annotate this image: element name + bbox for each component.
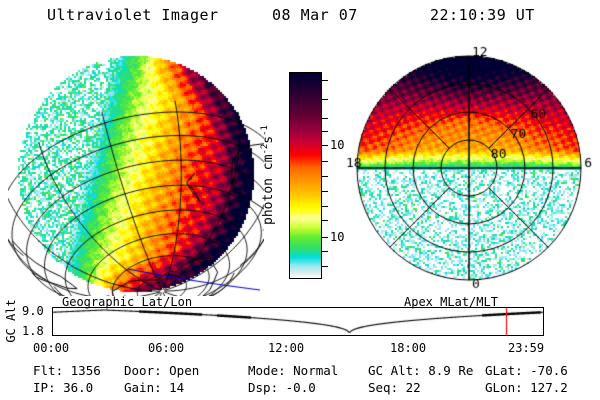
observation-time: 22:10:39 UT: [430, 6, 535, 24]
status-label: IP:: [33, 380, 63, 395]
time-tick-0600: 06:00: [148, 341, 184, 355]
colorbar: photon cm-2s-1 10010: [289, 72, 327, 279]
colorbar-axis-label: photon cm-2s-1: [260, 125, 276, 225]
colorbar-label-mid: s: [261, 136, 276, 144]
colorbar-tick: [322, 237, 328, 238]
colorbar-tick: [322, 176, 328, 177]
status-door: Door: Open: [124, 363, 199, 378]
colorbar-tick: [322, 251, 328, 252]
status-readout-block: Flt: 1356Door: OpenMode: NormalGC Alt: 8…: [0, 363, 600, 399]
colorbar-tick: [322, 99, 328, 100]
status-value: 14: [169, 380, 184, 395]
status-gcalt: GC Alt: 8.9 Re: [368, 363, 473, 378]
colorbar-tick: [322, 161, 328, 162]
status-value: 36.0: [63, 380, 93, 395]
time-tick-1800: 18:00: [390, 341, 426, 355]
status-label: Dsp:: [248, 380, 286, 395]
status-label: GC Alt:: [368, 363, 428, 378]
orbit-trace: [53, 308, 543, 335]
colorbar-tick: [322, 206, 328, 207]
time-tick-0000: 00:00: [33, 341, 69, 355]
status-label: Mode:: [248, 363, 293, 378]
status-value: 1356: [71, 363, 101, 378]
status-label: Flt:: [33, 363, 71, 378]
colorbar-tick: [322, 266, 328, 267]
colorbar-tick: [322, 80, 328, 81]
colorbar-tick: [322, 131, 328, 132]
status-seq: Seq: 22: [368, 380, 421, 395]
status-flt: Flt: 1356: [33, 363, 101, 378]
colorbar-tick-marks: [322, 72, 329, 279]
colorbar-exponent-2: -1: [260, 125, 270, 136]
status-label: Seq:: [368, 380, 406, 395]
status-value: Open: [169, 363, 199, 378]
colorbar-exponent-1: -2: [260, 144, 270, 155]
colorbar-gradient: [289, 72, 322, 279]
status-label: Door:: [124, 363, 169, 378]
time-tick-2359: 23:59: [508, 341, 544, 355]
gc-alt-tick-low: 1.8: [22, 324, 44, 338]
status-mode: Mode: Normal: [248, 363, 338, 378]
status-glon: GLon: 127.2: [485, 380, 568, 395]
gc-alt-axis-label: GC Alt: [4, 299, 18, 342]
status-value: 8.9 Re: [428, 363, 473, 378]
orbit-altitude-plot[interactable]: [52, 307, 544, 336]
observation-date: 08 Mar 07: [272, 6, 358, 24]
status-value: Normal: [293, 363, 338, 378]
time-tick-1200: 12:00: [268, 341, 304, 355]
colorbar-tick: [322, 118, 328, 119]
status-label: GLat:: [485, 363, 530, 378]
status-value: -70.6: [530, 363, 568, 378]
colorbar-label-text: photon cm: [261, 155, 276, 225]
status-dsp: Dsp: -0.0: [248, 380, 316, 395]
apex-polar-panel[interactable]: [345, 44, 593, 296]
status-value: -0.0: [286, 380, 316, 395]
status-ip: IP: 36.0: [33, 380, 93, 395]
colorbar-tick: [322, 220, 328, 221]
status-value: 127.2: [530, 380, 568, 395]
colorbar-tick-label-1: 10: [330, 230, 344, 244]
status-label: GLon:: [485, 380, 530, 395]
instrument-title: Ultraviolet Imager: [47, 6, 219, 24]
header-bar: Ultraviolet Imager 08 Mar 07 22:10:39 UT: [0, 6, 600, 30]
status-label: Gain:: [124, 380, 169, 395]
colorbar-tick: [322, 191, 328, 192]
geographic-image-panel[interactable]: [8, 44, 264, 296]
colorbar-tick: [322, 145, 328, 146]
gc-alt-tick-high: 9.0: [22, 304, 44, 318]
status-gain: Gain: 14: [124, 380, 184, 395]
status-glat: GLat: -70.6: [485, 363, 568, 378]
status-value: 22: [406, 380, 421, 395]
